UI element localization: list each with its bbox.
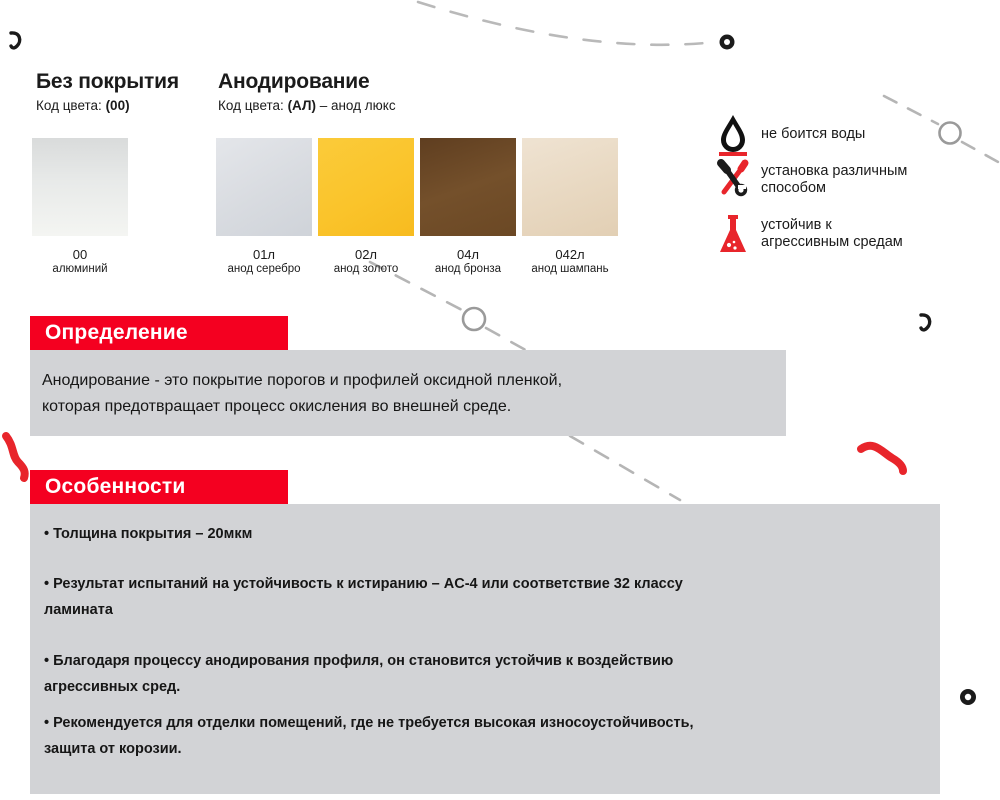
feature-chemical-resistant: устойчив к агрессивным средам xyxy=(716,212,903,256)
infographic-page: Без покрытия Код цвета: (00) Анодировани… xyxy=(0,0,1000,800)
subtitle-code-uncoated: (00) xyxy=(106,98,130,113)
definition-text: Анодирование - это покрытие порогов и пр… xyxy=(42,368,782,420)
tools-icon xyxy=(716,158,750,202)
open-circle-mid xyxy=(463,308,485,330)
subtitle-prefix-anodizing: Код цвета: xyxy=(218,98,288,113)
swatch-name-00: алюминий xyxy=(20,262,140,277)
red-squiggle-right xyxy=(861,446,903,471)
column-subtitle-anodizing: Код цвета: (АЛ) – анод люкс xyxy=(218,98,396,113)
feature-bullet-4: • Рекомендуется для отделки помещений, г… xyxy=(44,710,939,762)
section-tab-definition: Определение xyxy=(30,316,288,350)
open-circle-right xyxy=(940,123,961,144)
feature-bullet-2: • Результат испытаний на устойчивость к … xyxy=(44,571,934,623)
dashed-line-right-b xyxy=(962,142,1000,163)
red-squiggle-left xyxy=(6,436,25,478)
water-drop-icon xyxy=(716,112,750,156)
feature-water-resistant: не боится воды xyxy=(716,112,865,156)
swatch-00[interactable] xyxy=(32,138,128,236)
feature-bullet-3: • Благодаря процессу анодирования профил… xyxy=(44,648,934,700)
swatch-02l[interactable] xyxy=(318,138,414,236)
feature-installation: установка различным способом xyxy=(716,158,907,202)
comma-mark-right xyxy=(921,315,930,330)
swatch-code-00: 00 xyxy=(20,247,140,262)
swatch-042l[interactable] xyxy=(522,138,618,236)
feature-water-resistant-label: не боится воды xyxy=(761,126,865,143)
feature-installation-label: установка различным способом xyxy=(761,163,907,197)
swatch-01l[interactable] xyxy=(216,138,312,236)
swatch-name-042l: анод шампань xyxy=(510,262,630,277)
subtitle-prefix-uncoated: Код цвета: xyxy=(36,98,106,113)
swatch-label-042l: 042л анод шампань xyxy=(510,247,630,277)
ring-dot-top xyxy=(720,35,735,50)
comma-mark-topleft xyxy=(11,33,20,48)
feature-chemical-resistant-label: устойчив к агрессивным средам xyxy=(761,217,903,251)
ring-dot-bottom xyxy=(960,689,976,705)
column-title-anodizing: Анодирование xyxy=(218,70,369,94)
subtitle-code-anodizing: (АЛ) xyxy=(288,98,316,113)
dashed-line-right-a xyxy=(884,96,938,124)
section-tab-features: Особенности xyxy=(30,470,288,504)
flask-icon xyxy=(716,212,750,256)
swatch-code-042l: 042л xyxy=(510,247,630,262)
column-title-uncoated: Без покрытия xyxy=(36,70,179,94)
dashed-line-top xyxy=(418,2,716,45)
dashed-line-mid-c xyxy=(570,436,680,500)
feature-bullet-1: • Толщина покрытия – 20мкм xyxy=(44,521,924,547)
swatch-label-00: 00 алюминий xyxy=(20,247,140,277)
subtitle-suffix-anodizing: – анод люкс xyxy=(316,98,396,113)
column-subtitle-uncoated: Код цвета: (00) xyxy=(36,98,130,113)
swatch-04l[interactable] xyxy=(420,138,516,236)
